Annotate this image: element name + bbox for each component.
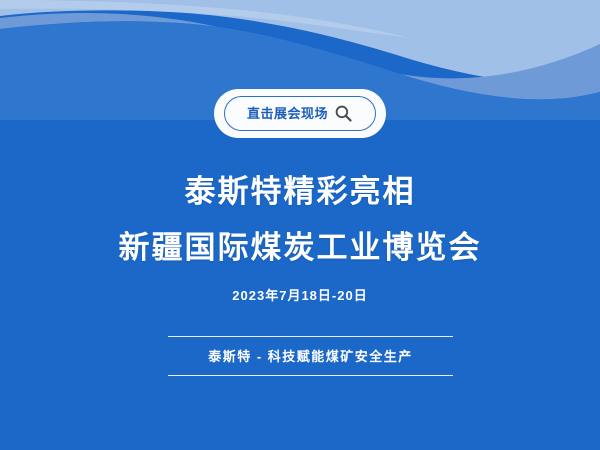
footer-tagline: 泰斯特 - 科技赋能煤矿安全生产 — [168, 337, 453, 375]
wave-light-shape — [0, 0, 600, 83]
badge-label: 直击展会现场 — [247, 107, 328, 120]
poster-canvas: 直击展会现场 泰斯特精彩亮相 新疆国际煤炭工业博览会 2023年7月18日-20… — [0, 0, 600, 450]
wave-mid-band — [0, 13, 600, 99]
wave-highlight-streak — [0, 0, 410, 38]
event-date: 2023年7月18日-20日 — [0, 285, 600, 304]
live-expo-badge[interactable]: 直击展会现场 — [214, 89, 386, 138]
badge-pill-wrapper: 直击展会现场 — [0, 89, 600, 138]
headline-block: 泰斯特精彩亮相 新疆国际煤炭工业博览会 2023年7月18日-20日 — [0, 176, 600, 304]
headline-line-2: 新疆国际煤炭工业博览会 — [0, 232, 600, 263]
search-icon[interactable] — [334, 104, 353, 123]
badge-inner-outline: 直击展会现场 — [224, 96, 376, 131]
divider-bottom — [168, 375, 453, 376]
headline-line-1: 泰斯特精彩亮相 — [0, 176, 600, 207]
tagline-block: 泰斯特 - 科技赋能煤矿安全生产 — [168, 336, 453, 376]
